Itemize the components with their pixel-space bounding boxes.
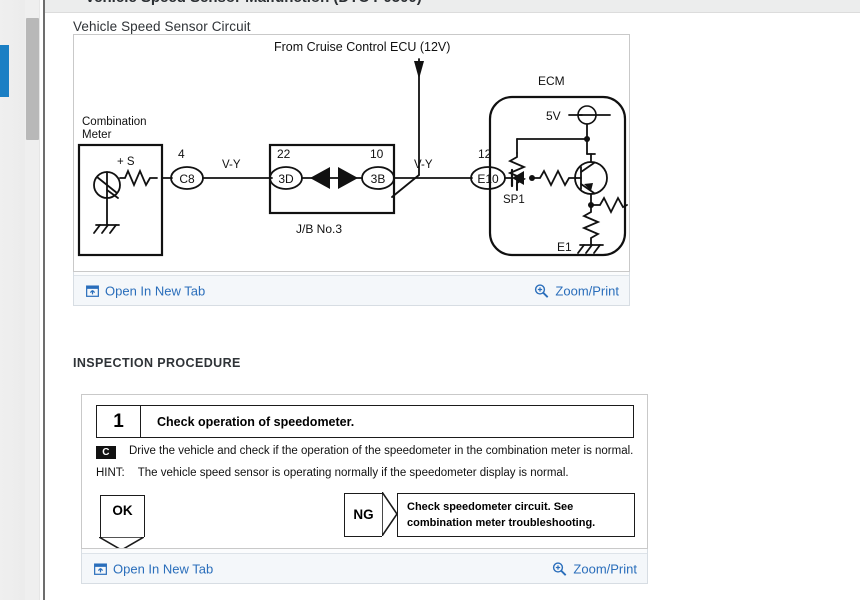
diagram-label-cruise-ecu: From Cruise Control ECU (12V) xyxy=(274,40,450,54)
diagram-connector-3d: 3D xyxy=(278,172,294,186)
diagram-label-combination-meter-2: Meter xyxy=(82,129,112,141)
zoom-print-button-procedure[interactable]: Zoom/Print xyxy=(552,561,637,576)
step-title: Check operation of speedometer. xyxy=(141,406,633,437)
step-number: 1 xyxy=(97,406,141,437)
magnifier-plus-icon xyxy=(534,283,549,298)
check-marker-icon: C xyxy=(96,446,116,459)
diagram-label-sp1: SP1 xyxy=(503,194,525,206)
result-ng-box: NG xyxy=(344,493,382,537)
diagram-label-e1: E1 xyxy=(557,240,572,254)
diagram-label-combination-meter-1: Combination xyxy=(82,116,147,128)
app-root: Vehicle Speed Sensor Malfunction (DTC P0… xyxy=(0,0,860,600)
document-content: Vehicle Speed Sensor Circuit xyxy=(45,13,860,600)
vehicle-speed-sensor-circuit-svg: From Cruise Control ECU (12V) Combinatio… xyxy=(74,35,629,271)
diagram-connector-c8: C8 xyxy=(179,172,195,186)
zoom-print-label: Zoom/Print xyxy=(573,561,637,576)
figure-caption: Vehicle Speed Sensor Circuit xyxy=(73,19,251,34)
diagram-label-plus-s: + S xyxy=(117,156,135,168)
magnifier-plus-icon xyxy=(552,561,567,576)
open-in-new-tab-button-procedure[interactable]: Open In New Tab xyxy=(94,561,213,576)
result-ok-label: OK xyxy=(101,503,144,518)
inspection-step-image[interactable]: 1 Check operation of speedometer. C Driv… xyxy=(81,394,648,549)
open-in-new-tab-label: Open In New Tab xyxy=(113,561,213,576)
open-in-new-tab-button-figure[interactable]: Open In New Tab xyxy=(86,283,205,298)
wiring-diagram-panel: From Cruise Control ECU (12V) Combinatio… xyxy=(73,34,630,306)
hint-text: The vehicle speed sensor is operating no… xyxy=(138,467,569,479)
ng-arrow-right-icon xyxy=(382,492,397,536)
diagram-label-jb-no3: J/B No.3 xyxy=(296,222,342,236)
diagram-pin-22: 22 xyxy=(277,147,291,161)
diagram-connector-3b: 3B xyxy=(371,172,386,186)
ok-arrow-down-icon xyxy=(99,537,144,549)
inspection-procedure-heading: INSPECTION PROCEDURE xyxy=(73,356,241,370)
diagram-pin-12: 12 xyxy=(478,147,492,161)
inspection-step-panel: 1 Check operation of speedometer. C Driv… xyxy=(81,394,648,584)
wiring-diagram-image[interactable]: From Cruise Control ECU (12V) Combinatio… xyxy=(73,34,630,272)
diagram-pin-4: 4 xyxy=(178,147,185,161)
open-in-new-tab-label: Open In New Tab xyxy=(105,283,205,298)
step-action-row: C Drive the vehicle and check if the ope… xyxy=(96,445,633,459)
step-hint-row: HINT: The vehicle speed sensor is operat… xyxy=(96,467,569,479)
step-header: 1 Check operation of speedometer. xyxy=(96,405,634,438)
diagram-label-5v: 5V xyxy=(546,109,561,123)
page-heading-strip: Vehicle Speed Sensor Malfunction (DTC P0… xyxy=(45,0,860,13)
page-title: Vehicle Speed Sensor Malfunction (DTC P0… xyxy=(85,0,422,6)
hint-label: HINT: xyxy=(96,467,125,479)
diagram-connector-e10: E10 xyxy=(477,172,499,186)
open-in-new-tab-icon xyxy=(94,562,107,575)
diagram-pin-10: 10 xyxy=(370,147,384,161)
step-action-text: Drive the vehicle and check if the opera… xyxy=(129,445,633,457)
zoom-print-button-figure[interactable]: Zoom/Print xyxy=(534,283,619,298)
page-scrollbar-thumb[interactable] xyxy=(26,18,39,140)
zoom-print-label: Zoom/Print xyxy=(555,283,619,298)
figure-toolbar: Open In New Tab Zoom/Print xyxy=(74,275,629,305)
result-ok-box: OK xyxy=(100,495,145,537)
side-drawer-tab[interactable] xyxy=(0,45,9,97)
diagram-label-ecm: ECM xyxy=(538,74,565,88)
diagram-wire-color-1: V-Y xyxy=(222,159,241,171)
open-in-new-tab-icon xyxy=(86,284,99,297)
procedure-toolbar: Open In New Tab Zoom/Print xyxy=(82,553,647,583)
result-ng-label: NG xyxy=(345,507,382,522)
result-ng-action: Check speedometer circuit. See combinati… xyxy=(397,493,635,537)
diagram-wire-color-2: V-Y xyxy=(414,159,433,171)
